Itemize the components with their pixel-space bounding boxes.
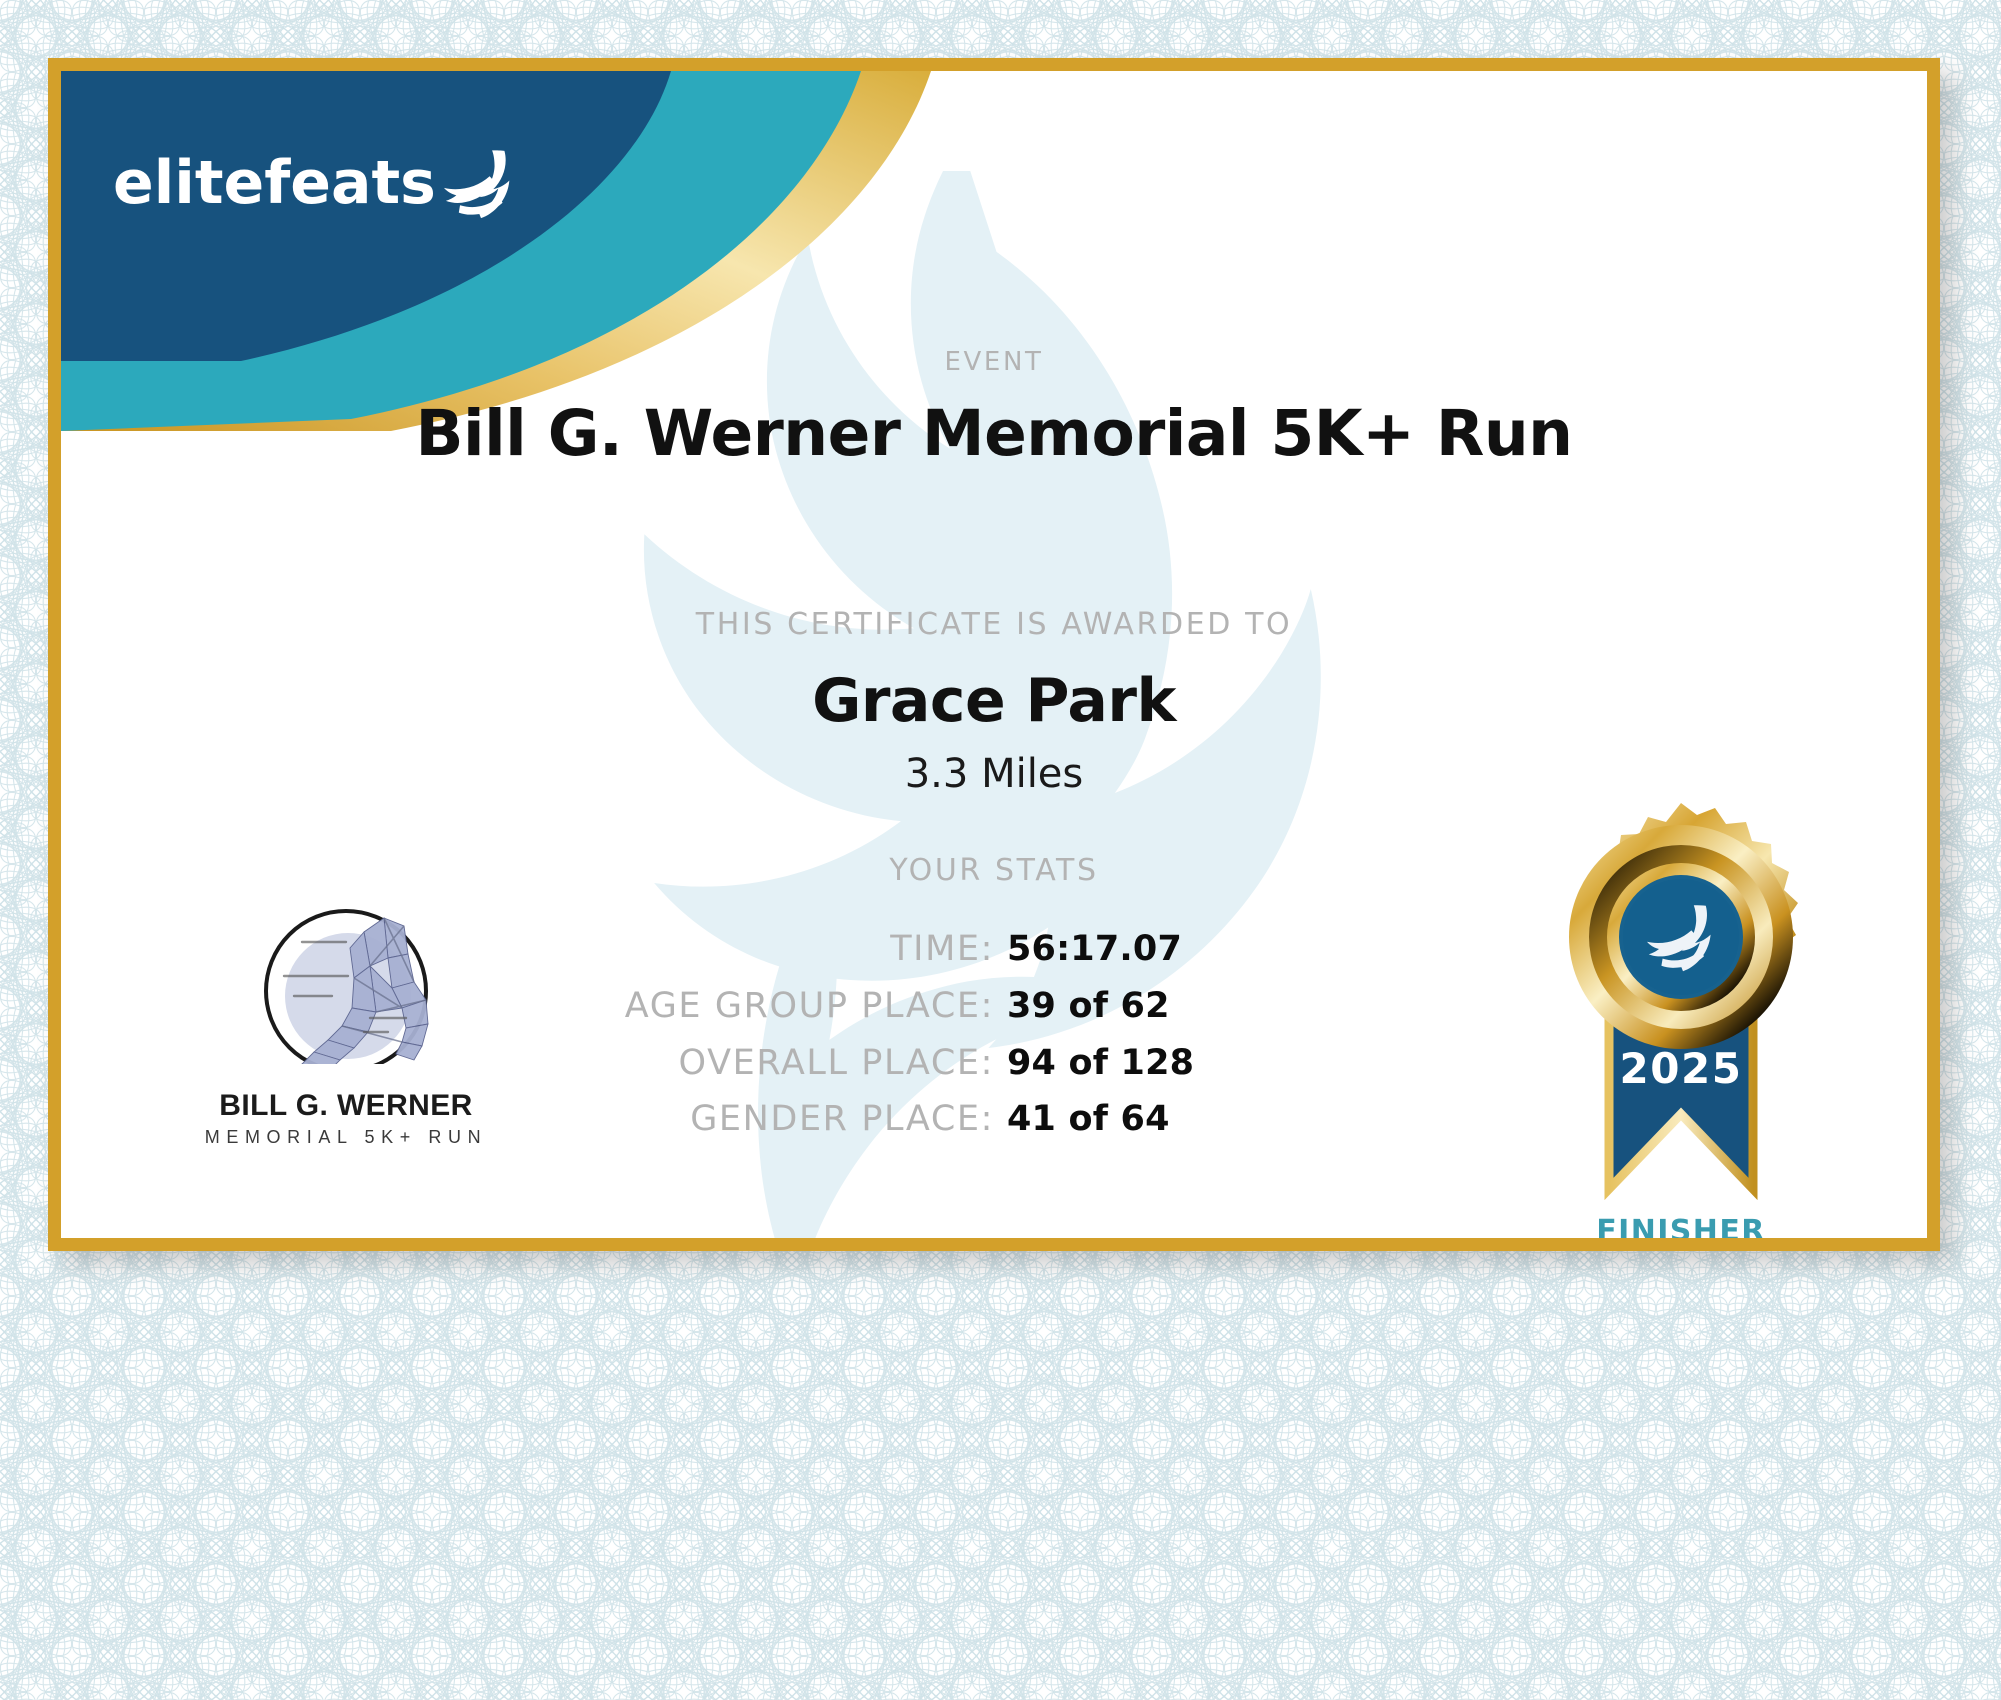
brand-wordmark: elitefeats xyxy=(113,153,436,213)
race-logo: BILL G. WERNER MEMORIAL 5K+ RUN xyxy=(181,896,511,1171)
badge-caption: FINISHER CERTIFICATE xyxy=(1516,1215,1846,1238)
header-swoosh-graphic xyxy=(61,71,1261,431)
badge-caption-line1: FINISHER xyxy=(1516,1215,1846,1238)
race-logo-subtitle: MEMORIAL 5K+ RUN xyxy=(181,1127,511,1148)
awarded-to-label: THIS CERTIFICATE IS AWARDED TO xyxy=(61,607,1927,642)
medal-year: 2025 xyxy=(1620,1044,1743,1093)
certificate-body: elitefeats EVENT Bill G. Werner Memorial… xyxy=(61,71,1927,1238)
winged-foot-icon xyxy=(442,146,520,220)
race-logo-name: BILL G. WERNER xyxy=(181,1090,511,1122)
brand-logo: elitefeats xyxy=(113,146,520,220)
certificate-page: elitefeats EVENT Bill G. Werner Memorial… xyxy=(0,0,2001,1700)
event-label: EVENT xyxy=(61,347,1927,377)
gold-rosette-medal-icon: 2025 xyxy=(1531,789,1831,1209)
finisher-medal-badge: 2025 FINISHER CERTIFICATE xyxy=(1516,789,1846,1238)
running-legs-circle-icon xyxy=(236,896,456,1096)
certificate-frame: elitefeats EVENT Bill G. Werner Memorial… xyxy=(48,58,1940,1251)
recipient-name: Grace Park xyxy=(61,666,1927,736)
event-title: Bill G. Werner Memorial 5K+ Run xyxy=(61,397,1927,470)
